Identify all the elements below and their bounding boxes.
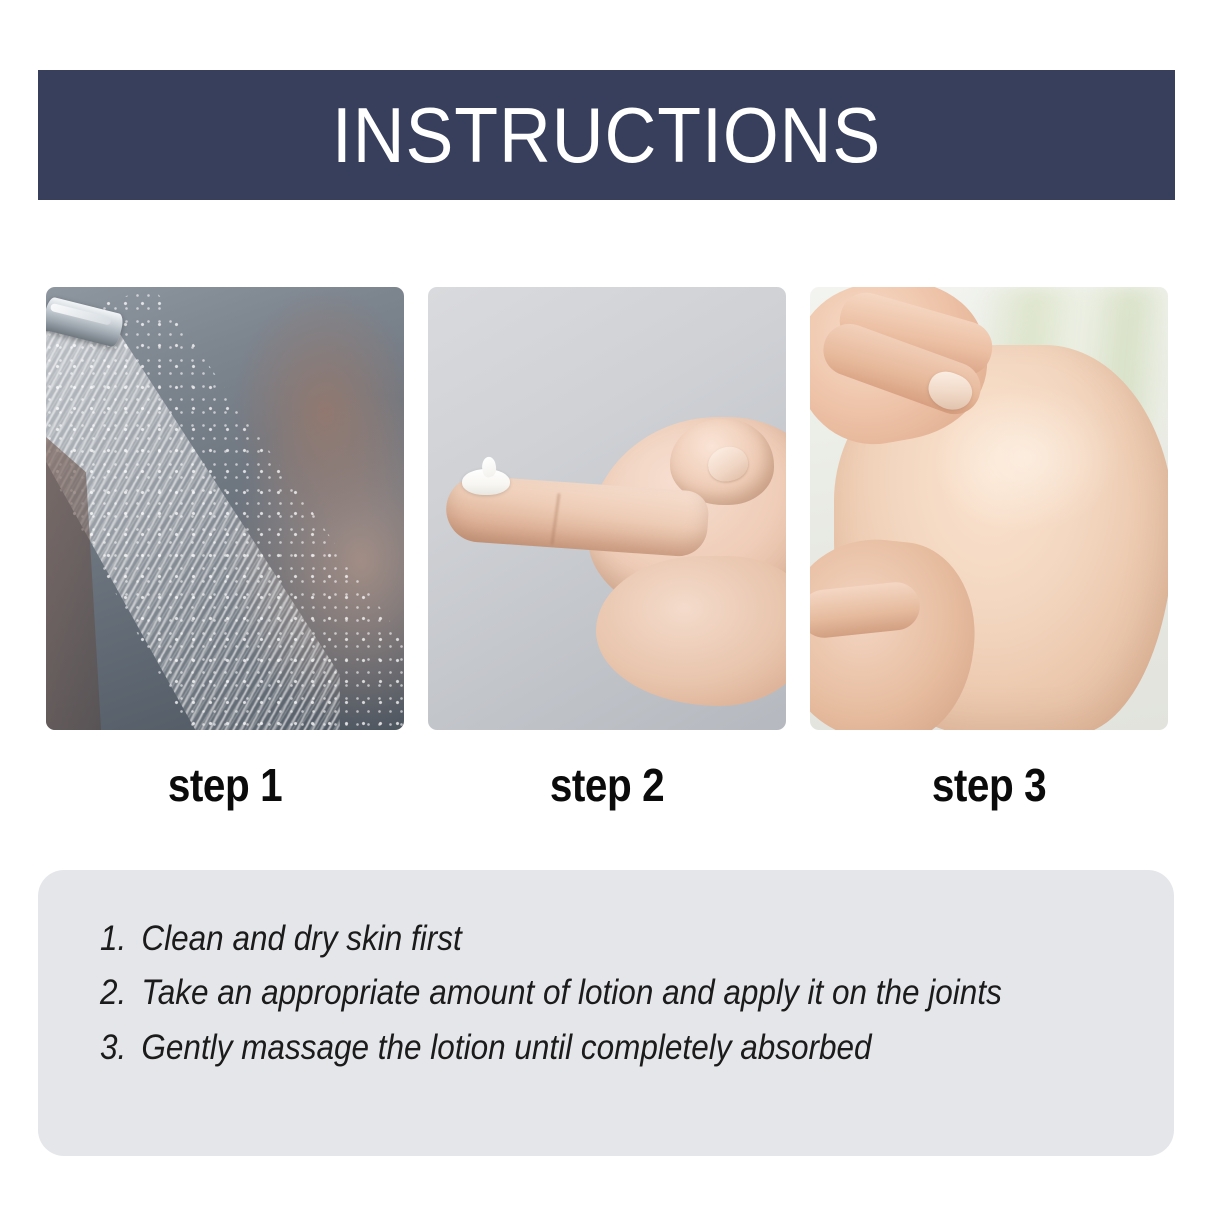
list-item-text: Take an appropriate amount of lotion and…	[141, 966, 1001, 1020]
instruction-list: 1. Clean and dry skin first 2. Take an a…	[100, 912, 1134, 1075]
palm-shape	[596, 556, 786, 706]
list-item-number: 1.	[100, 912, 141, 966]
cream-on-finger-photo	[428, 287, 786, 730]
massage-joint-photo	[810, 287, 1168, 730]
step-label-3: step 3	[831, 756, 1146, 814]
instructions-panel: 1. Clean and dry skin first 2. Take an a…	[38, 870, 1174, 1156]
instructions-page: INSTRUCTIONS	[0, 0, 1214, 1214]
step-label-2: step 2	[449, 756, 764, 814]
water-droplets	[46, 287, 404, 730]
step-images-row	[46, 287, 1168, 730]
list-item-number: 3.	[100, 1021, 141, 1075]
header-bar: INSTRUCTIONS	[38, 70, 1175, 200]
step-card-2	[428, 287, 786, 730]
list-item: 1. Clean and dry skin first	[100, 912, 1031, 966]
list-item-number: 2.	[100, 966, 141, 1020]
list-item-text: Gently massage the lotion until complete…	[141, 1021, 871, 1075]
step-labels-row: step 1 step 2 step 3	[46, 756, 1168, 814]
step-card-3	[810, 287, 1168, 730]
shower-photo	[46, 287, 404, 730]
step-card-1	[46, 287, 404, 730]
page-title: INSTRUCTIONS	[332, 96, 881, 174]
list-item-text: Clean and dry skin first	[141, 912, 461, 966]
step-label-1: step 1	[67, 756, 382, 814]
list-item: 3. Gently massage the lotion until compl…	[100, 1021, 1031, 1075]
list-item: 2. Take an appropriate amount of lotion …	[100, 966, 1031, 1020]
